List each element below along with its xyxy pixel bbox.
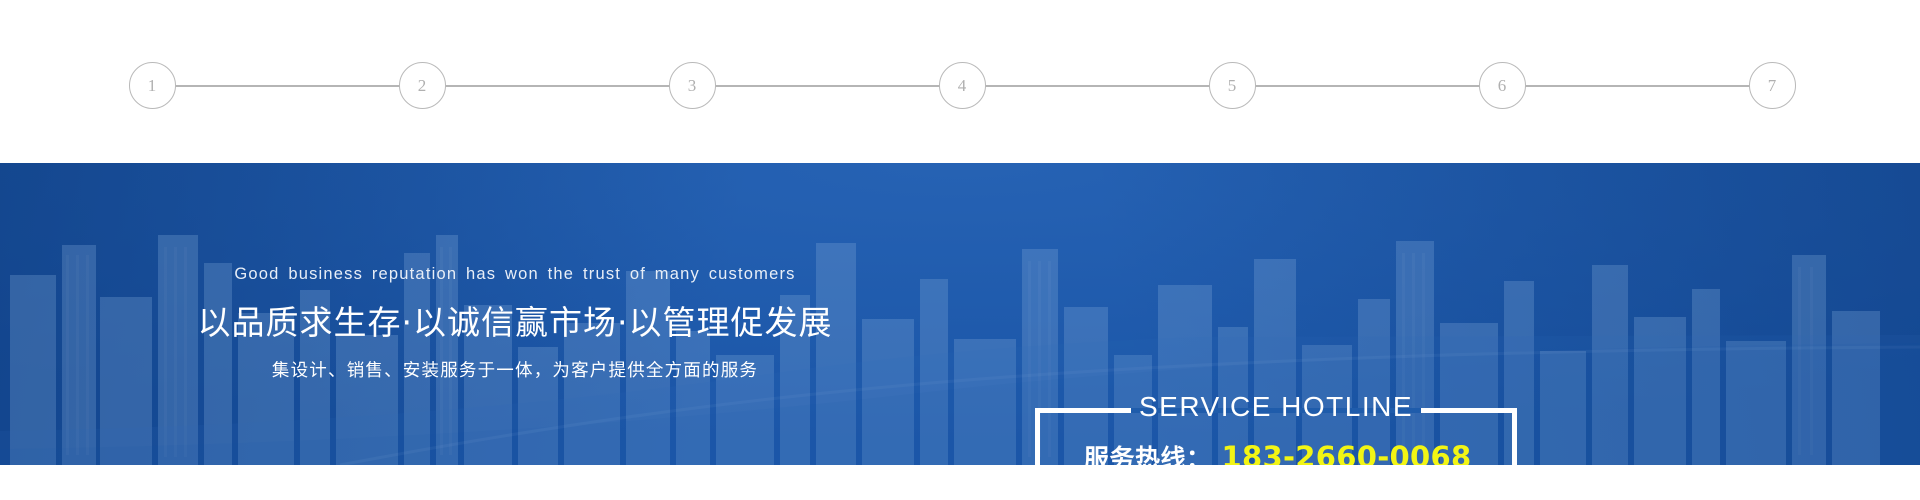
banner-page: 1234567	[0, 0, 1920, 500]
step-circle-label: 1	[148, 76, 157, 96]
slogan-english: Good business reputation has won the tru…	[234, 265, 795, 284]
step-connector-line	[985, 85, 1210, 87]
step-circle-label: 3	[688, 76, 697, 96]
hotline-row-primary: 服务热线： 183-2660-0068	[1084, 439, 1512, 465]
step-progress-bar: 1234567	[0, 0, 1920, 163]
step-circle-5[interactable]: 5	[1209, 62, 1256, 109]
slogan-block: Good business reputation has won the tru…	[0, 163, 1030, 465]
step-connector-line	[445, 85, 670, 87]
step-circle-4[interactable]: 4	[939, 62, 986, 109]
step-circle-3[interactable]: 3	[669, 62, 716, 109]
step-circle-label: 2	[418, 76, 427, 96]
step-connector-line	[1525, 85, 1750, 87]
step-circle-1[interactable]: 1	[129, 62, 176, 109]
step-circle-7[interactable]: 7	[1749, 62, 1796, 109]
step-circle-label: 4	[958, 76, 967, 96]
step-connector-line	[1255, 85, 1480, 87]
step-circle-label: 7	[1768, 76, 1777, 96]
step-circle-2[interactable]: 2	[399, 62, 446, 109]
step-circle-label: 6	[1498, 76, 1507, 96]
stepper-strip: 1234567	[0, 0, 1920, 163]
slogan-subline: 集设计、销售、安装服务于一体，为客户提供全方面的服务	[272, 357, 758, 382]
step-connector-line	[175, 85, 400, 87]
slogan-headline: 以品质求生存·以诚信赢市场·以管理促发展	[198, 296, 833, 344]
bottom-white-strip	[0, 465, 1920, 500]
hotline-title: SERVICE HOTLINE	[1125, 391, 1427, 423]
hotline-box: SERVICE HOTLINE 服务热线： 183-2660-0068 0551…	[1035, 408, 1517, 465]
step-circle-6[interactable]: 6	[1479, 62, 1526, 109]
hotline-numbers: 服务热线： 183-2660-0068 0551-63749777	[1040, 439, 1512, 465]
promo-banner: Good business reputation has won the tru…	[0, 163, 1920, 465]
step-connector-line	[715, 85, 940, 87]
hotline-number-primary[interactable]: 183-2660-0068	[1222, 440, 1472, 465]
step-circle-label: 5	[1228, 76, 1237, 96]
hotline-label: 服务热线：	[1084, 439, 1212, 465]
